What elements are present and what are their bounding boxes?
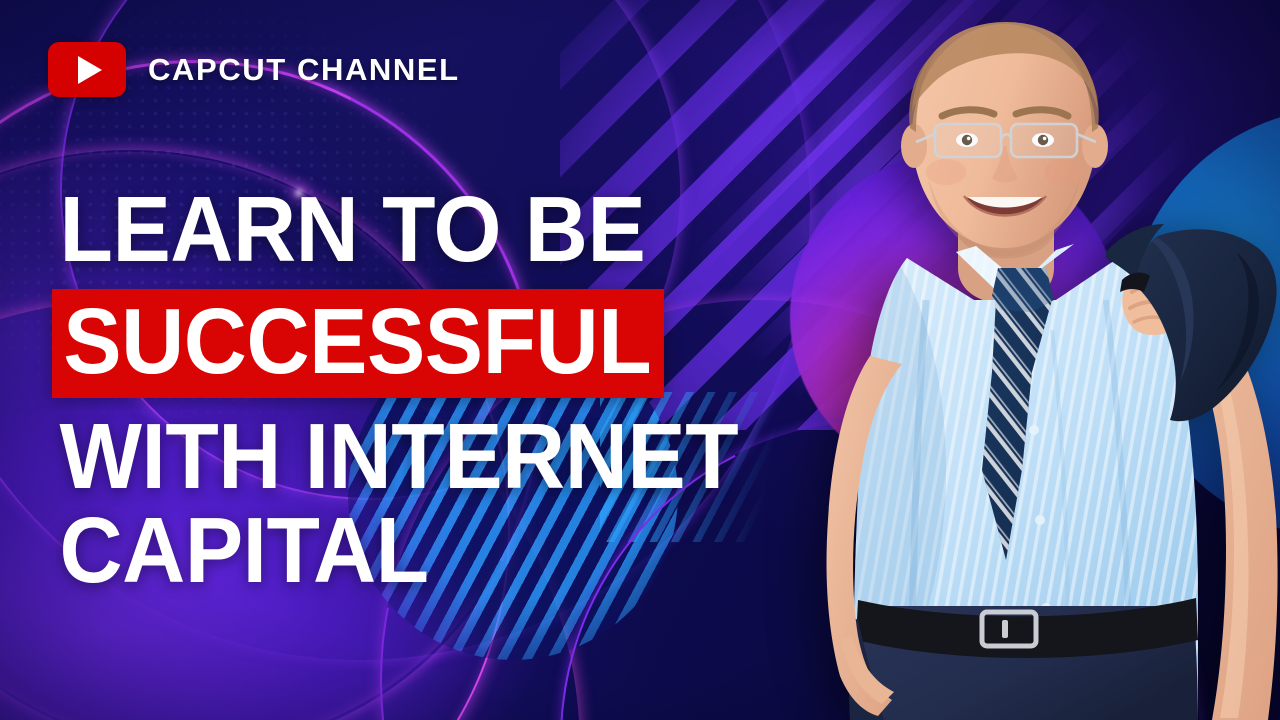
- play-triangle-icon: [78, 56, 102, 84]
- headline-line-3: WITH INTERNET: [52, 410, 738, 502]
- youtube-play-icon[interactable]: [48, 42, 126, 97]
- headline-highlight-line: SUCCESSFUL: [52, 289, 664, 398]
- headline-block: LEARN TO BE SUCCESSFUL WITH INTERNET CAP…: [52, 183, 782, 596]
- headline-line-4: CAPITAL: [52, 504, 429, 596]
- channel-name: CAPCUT CHANNEL: [148, 52, 460, 88]
- presenter-photo: [806, 0, 1280, 720]
- channel-badge[interactable]: CAPCUT CHANNEL: [48, 42, 460, 97]
- headline-line-1: LEARN TO BE: [52, 183, 645, 275]
- youtube-thumbnail: CAPCUT CHANNEL LEARN TO BE SUCCESSFUL WI…: [0, 0, 1280, 720]
